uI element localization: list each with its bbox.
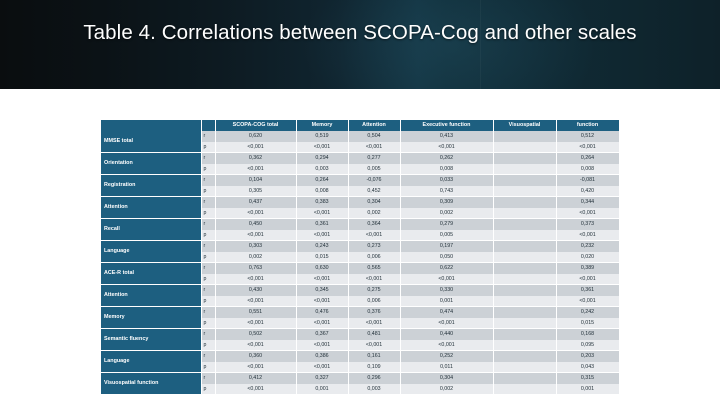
column-header-attention: Attention bbox=[348, 120, 400, 131]
table-head: SCOPA-COG total Memory Attention Executi… bbox=[101, 120, 619, 131]
cell-value: 0,273 bbox=[348, 241, 400, 252]
cell-value: 0,743 bbox=[400, 186, 493, 197]
cell-value: 0,008 bbox=[296, 186, 348, 197]
cell-value: 0,002 bbox=[215, 252, 296, 263]
cell-value: 0,262 bbox=[400, 153, 493, 164]
table-row: Semantic fluencyr0,5020,3670,4810,4400,1… bbox=[101, 329, 619, 340]
cell-value: <0,001 bbox=[348, 142, 400, 153]
stat-label-r: r bbox=[201, 285, 215, 296]
cell-value: 0,502 bbox=[215, 329, 296, 340]
cell-value: 0,481 bbox=[348, 329, 400, 340]
cell-value: <0,001 bbox=[296, 340, 348, 351]
cell-value: 0,005 bbox=[400, 230, 493, 241]
cell-value: 0,264 bbox=[296, 175, 348, 186]
row-label: Attention bbox=[101, 197, 201, 219]
cell-value: 0,020 bbox=[556, 252, 619, 263]
cell-value: 0,440 bbox=[400, 329, 493, 340]
cell-value: <0,001 bbox=[296, 274, 348, 285]
header-stat-blank bbox=[201, 120, 215, 131]
cell-value: 0,361 bbox=[556, 285, 619, 296]
cell-value: 0,011 bbox=[400, 362, 493, 373]
stat-label-r: r bbox=[201, 329, 215, 340]
cell-value: 0,474 bbox=[400, 307, 493, 318]
cell-value: 0,168 bbox=[556, 329, 619, 340]
correlation-table-wrapper: SCOPA-COG total Memory Attention Executi… bbox=[101, 120, 619, 395]
row-label: Language bbox=[101, 241, 201, 263]
column-header-scopa-cog-total: SCOPA-COG total bbox=[215, 120, 296, 131]
stat-label-p: p bbox=[201, 142, 215, 153]
cell-value: 0,008 bbox=[400, 164, 493, 175]
cell-value bbox=[493, 263, 556, 274]
stat-label-p: p bbox=[201, 164, 215, 175]
cell-value: 0,197 bbox=[400, 241, 493, 252]
stat-label-p: p bbox=[201, 230, 215, 241]
table-row: Registrationr0,1040,264-0,0760,033-0,081 bbox=[101, 175, 619, 186]
cell-value: 0,203 bbox=[556, 351, 619, 362]
cell-value: <0,001 bbox=[556, 296, 619, 307]
cell-value: <0,001 bbox=[296, 208, 348, 219]
row-label: Registration bbox=[101, 175, 201, 197]
cell-value: 0,551 bbox=[215, 307, 296, 318]
table-row: Languager0,3030,2430,2730,1970,232 bbox=[101, 241, 619, 252]
cell-value: <0,001 bbox=[215, 340, 296, 351]
stat-label-p: p bbox=[201, 252, 215, 263]
cell-value: 0,294 bbox=[296, 153, 348, 164]
cell-value: 0,005 bbox=[348, 164, 400, 175]
cell-value: 0,232 bbox=[556, 241, 619, 252]
cell-value bbox=[493, 164, 556, 175]
stat-label-r: r bbox=[201, 241, 215, 252]
cell-value: 0,275 bbox=[348, 285, 400, 296]
stat-label-r: r bbox=[201, 219, 215, 230]
cell-value: 0,367 bbox=[296, 329, 348, 340]
cell-value: <0,001 bbox=[215, 230, 296, 241]
cell-value: <0,001 bbox=[296, 296, 348, 307]
cell-value: 0,519 bbox=[296, 131, 348, 142]
cell-value: 0,630 bbox=[296, 263, 348, 274]
cell-value: 0,002 bbox=[348, 208, 400, 219]
stat-label-p: p bbox=[201, 274, 215, 285]
cell-value: 0,565 bbox=[348, 263, 400, 274]
cell-value: 0,252 bbox=[400, 351, 493, 362]
cell-value: <0,001 bbox=[556, 208, 619, 219]
cell-value bbox=[493, 307, 556, 318]
cell-value: 0,015 bbox=[296, 252, 348, 263]
row-label: Attention bbox=[101, 285, 201, 307]
cell-value: <0,001 bbox=[215, 208, 296, 219]
cell-value: <0,001 bbox=[215, 296, 296, 307]
cell-value bbox=[493, 285, 556, 296]
cell-value: 0,315 bbox=[556, 373, 619, 384]
cell-value bbox=[493, 142, 556, 153]
column-header-visuospatial: Visuospatial bbox=[493, 120, 556, 131]
cell-value: 0,050 bbox=[400, 252, 493, 263]
cell-value: <0,001 bbox=[215, 164, 296, 175]
cell-value bbox=[493, 252, 556, 263]
cell-value: <0,001 bbox=[215, 384, 296, 395]
row-label: Language bbox=[101, 351, 201, 373]
table-row: Memoryr0,5510,4760,3760,4740,242 bbox=[101, 307, 619, 318]
cell-value: 0,304 bbox=[348, 197, 400, 208]
cell-value bbox=[493, 241, 556, 252]
cell-value bbox=[493, 340, 556, 351]
cell-value: 0,008 bbox=[556, 164, 619, 175]
cell-value: <0,001 bbox=[296, 362, 348, 373]
cell-value: <0,001 bbox=[400, 340, 493, 351]
row-label: Orientation bbox=[101, 153, 201, 175]
cell-value: 0,242 bbox=[556, 307, 619, 318]
cell-value: 0,476 bbox=[296, 307, 348, 318]
stat-label-r: r bbox=[201, 307, 215, 318]
slide: Table 4. Correlations between SCOPA-Cog … bbox=[0, 0, 720, 405]
cell-value bbox=[493, 208, 556, 219]
cell-value: 0,389 bbox=[556, 263, 619, 274]
cell-value bbox=[493, 230, 556, 241]
cell-value bbox=[493, 219, 556, 230]
cell-value: <0,001 bbox=[296, 230, 348, 241]
cell-value: <0,001 bbox=[556, 230, 619, 241]
cell-value bbox=[493, 373, 556, 384]
cell-value: <0,001 bbox=[400, 274, 493, 285]
cell-value: 0,452 bbox=[348, 186, 400, 197]
cell-value: 0,001 bbox=[400, 296, 493, 307]
stat-label-r: r bbox=[201, 197, 215, 208]
cell-value: <0,001 bbox=[215, 274, 296, 285]
cell-value: 0,420 bbox=[556, 186, 619, 197]
cell-value: <0,001 bbox=[215, 318, 296, 329]
cell-value: 0,264 bbox=[556, 153, 619, 164]
cell-value: <0,001 bbox=[348, 340, 400, 351]
header-corner-blank bbox=[101, 120, 201, 131]
cell-value: 0,622 bbox=[400, 263, 493, 274]
cell-value: 0,330 bbox=[400, 285, 493, 296]
cell-value bbox=[493, 197, 556, 208]
cell-value: <0,001 bbox=[348, 318, 400, 329]
table-row: Orientationr0,3620,2940,2770,2620,264 bbox=[101, 153, 619, 164]
cell-value: 0,296 bbox=[348, 373, 400, 384]
row-label: Memory bbox=[101, 307, 201, 329]
cell-value: <0,001 bbox=[556, 274, 619, 285]
cell-value: 0,504 bbox=[348, 131, 400, 142]
cell-value: 0,430 bbox=[215, 285, 296, 296]
cell-value bbox=[493, 296, 556, 307]
cell-value bbox=[493, 318, 556, 329]
table-header-row: SCOPA-COG total Memory Attention Executi… bbox=[101, 120, 619, 131]
cell-value: 0,361 bbox=[296, 219, 348, 230]
stat-label-p: p bbox=[201, 384, 215, 395]
cell-value: 0,104 bbox=[215, 175, 296, 186]
stat-label-p: p bbox=[201, 186, 215, 197]
cell-value: 0,763 bbox=[215, 263, 296, 274]
cell-value: -0,076 bbox=[348, 175, 400, 186]
cell-value: 0,095 bbox=[556, 340, 619, 351]
stat-label-p: p bbox=[201, 208, 215, 219]
correlation-table: SCOPA-COG total Memory Attention Executi… bbox=[101, 120, 620, 395]
row-label: MMSE total bbox=[101, 131, 201, 153]
cell-value: 0,006 bbox=[348, 252, 400, 263]
column-header-memory: Memory bbox=[296, 120, 348, 131]
table-row: Languager0,3600,3860,1610,2520,203 bbox=[101, 351, 619, 362]
stat-label-r: r bbox=[201, 153, 215, 164]
cell-value: 0,303 bbox=[215, 241, 296, 252]
cell-value: 0,243 bbox=[296, 241, 348, 252]
cell-value bbox=[493, 175, 556, 186]
cell-value: 0,003 bbox=[296, 164, 348, 175]
cell-value: 0,437 bbox=[215, 197, 296, 208]
cell-value: 0,327 bbox=[296, 373, 348, 384]
page-title: Table 4. Correlations between SCOPA-Cog … bbox=[0, 21, 720, 45]
table-body: MMSE totalr0,6200,5190,5040,4130,512p<0,… bbox=[101, 131, 619, 395]
cell-value: -0,081 bbox=[556, 175, 619, 186]
cell-value: <0,001 bbox=[215, 362, 296, 373]
stat-label-r: r bbox=[201, 175, 215, 186]
row-label: ACE-R total bbox=[101, 263, 201, 285]
stat-label-r: r bbox=[201, 351, 215, 362]
cell-value: 0,001 bbox=[556, 384, 619, 395]
cell-value: 0,413 bbox=[400, 131, 493, 142]
cell-value: 0,006 bbox=[348, 296, 400, 307]
stat-label-r: r bbox=[201, 131, 215, 142]
stat-label-p: p bbox=[201, 318, 215, 329]
row-label: Recall bbox=[101, 219, 201, 241]
cell-value: 0,015 bbox=[556, 318, 619, 329]
cell-value: 0,109 bbox=[348, 362, 400, 373]
cell-value bbox=[493, 329, 556, 340]
table-row: ACE-R totalr0,7630,6300,5650,6220,389 bbox=[101, 263, 619, 274]
title-band: Table 4. Correlations between SCOPA-Cog … bbox=[0, 0, 720, 89]
cell-value: <0,001 bbox=[296, 142, 348, 153]
column-header-function: function bbox=[556, 120, 619, 131]
cell-value: <0,001 bbox=[400, 318, 493, 329]
cell-value: 0,364 bbox=[348, 219, 400, 230]
cell-value: 0,344 bbox=[556, 197, 619, 208]
cell-value: 0,373 bbox=[556, 219, 619, 230]
cell-value: 0,305 bbox=[215, 186, 296, 197]
table-row: Recallr0,4500,3610,3640,2790,373 bbox=[101, 219, 619, 230]
cell-value bbox=[493, 351, 556, 362]
stat-label-r: r bbox=[201, 373, 215, 384]
cell-value: 0,512 bbox=[556, 131, 619, 142]
cell-value: <0,001 bbox=[348, 230, 400, 241]
cell-value: 0,362 bbox=[215, 153, 296, 164]
cell-value: 0,386 bbox=[296, 351, 348, 362]
cell-value: 0,001 bbox=[296, 384, 348, 395]
stat-label-p: p bbox=[201, 362, 215, 373]
cell-value: 0,345 bbox=[296, 285, 348, 296]
cell-value: 0,002 bbox=[400, 208, 493, 219]
cell-value: 0,412 bbox=[215, 373, 296, 384]
table-row: Visuospatial functionr0,4120,3270,2960,3… bbox=[101, 373, 619, 384]
cell-value: <0,001 bbox=[215, 142, 296, 153]
cell-value: 0,620 bbox=[215, 131, 296, 142]
cell-value: 0,043 bbox=[556, 362, 619, 373]
cell-value: 0,161 bbox=[348, 351, 400, 362]
stat-label-p: p bbox=[201, 296, 215, 307]
cell-value: 0,309 bbox=[400, 197, 493, 208]
cell-value bbox=[493, 362, 556, 373]
column-header-executive-function: Executive function bbox=[400, 120, 493, 131]
cell-value: <0,001 bbox=[400, 142, 493, 153]
cell-value: <0,001 bbox=[348, 274, 400, 285]
cell-value bbox=[493, 131, 556, 142]
stat-label-p: p bbox=[201, 340, 215, 351]
cell-value bbox=[493, 274, 556, 285]
cell-value: 0,277 bbox=[348, 153, 400, 164]
table-row: Attentionr0,4300,3450,2750,3300,361 bbox=[101, 285, 619, 296]
cell-value: 0,383 bbox=[296, 197, 348, 208]
cell-value: 0,279 bbox=[400, 219, 493, 230]
cell-value: 0,376 bbox=[348, 307, 400, 318]
row-label: Visuospatial function bbox=[101, 373, 201, 395]
cell-value: 0,003 bbox=[348, 384, 400, 395]
table-row: Attentionr0,4370,3830,3040,3090,344 bbox=[101, 197, 619, 208]
cell-value bbox=[493, 186, 556, 197]
cell-value: <0,001 bbox=[556, 142, 619, 153]
table-row: MMSE totalr0,6200,5190,5040,4130,512 bbox=[101, 131, 619, 142]
cell-value: 0,450 bbox=[215, 219, 296, 230]
cell-value bbox=[493, 153, 556, 164]
cell-value: <0,001 bbox=[296, 318, 348, 329]
row-label: Semantic fluency bbox=[101, 329, 201, 351]
cell-value: 0,033 bbox=[400, 175, 493, 186]
cell-value bbox=[493, 384, 556, 395]
cell-value: 0,360 bbox=[215, 351, 296, 362]
cell-value: 0,304 bbox=[400, 373, 493, 384]
cell-value: 0,002 bbox=[400, 384, 493, 395]
stat-label-r: r bbox=[201, 263, 215, 274]
